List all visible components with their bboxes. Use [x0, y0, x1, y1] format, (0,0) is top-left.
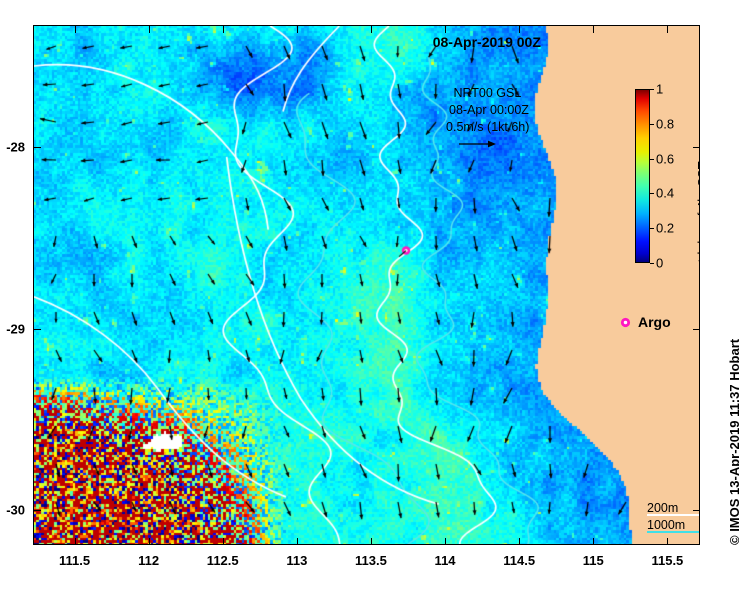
map-plot-area: 08-Apr-2019 00Z NRT00 GSL 08-Apr 00:00Z …: [33, 25, 700, 545]
y-tick: [34, 147, 41, 148]
colorbar-tick: [650, 89, 654, 90]
x-tick-label: 111.5: [59, 553, 90, 568]
x-tick: [297, 26, 298, 33]
colorbar-tick-label: 0.8: [656, 116, 674, 131]
colorbar-tick: [650, 193, 654, 194]
x-tick: [667, 538, 668, 545]
x-tick: [519, 26, 520, 33]
x-tick-label: 114: [435, 553, 456, 568]
y-tick-label: -30: [0, 503, 25, 518]
colorbar-tick-label: 0.4: [656, 186, 674, 201]
colorbar-tick: [650, 159, 654, 160]
colorbar-tick: [650, 263, 654, 264]
x-tick: [593, 26, 594, 33]
y-tick: [34, 329, 41, 330]
colorbar-tick: [650, 228, 654, 229]
argo-marker-icon: [620, 317, 631, 328]
x-tick: [75, 538, 76, 545]
x-tick: [149, 26, 150, 33]
x-tick: [445, 26, 446, 33]
x-tick: [297, 538, 298, 545]
depth-row-shallow: 200m: [647, 499, 685, 516]
colorbar-tick: [650, 124, 654, 125]
y-tick-label: -28: [0, 139, 25, 154]
x-tick: [223, 26, 224, 33]
vector-key-arrow-icon: [458, 138, 498, 150]
argo-legend: Argo: [620, 314, 671, 330]
x-tick: [445, 538, 446, 545]
colorbar-tick-label: 0: [656, 256, 663, 271]
x-tick: [519, 538, 520, 545]
depth-label-200m: 200m: [647, 501, 678, 515]
credit-text: © IMOS 13-Apr-2019 11:37 Hobart: [727, 339, 739, 545]
depth-rule-1000m: [647, 531, 699, 533]
x-tick: [149, 538, 150, 545]
depth-label-1000m: 1000m: [647, 518, 685, 532]
x-tick: [371, 538, 372, 545]
annotation-line-1: NRT00 GSL: [453, 86, 521, 100]
x-tick: [667, 26, 668, 33]
x-tick-label: 114.5: [503, 553, 535, 568]
depth-scale-key: 200m 1000m: [647, 499, 685, 533]
x-tick-label: 112.5: [207, 553, 239, 568]
colorbar-tick-label: 0.2: [656, 221, 674, 236]
x-tick-label: 115: [583, 553, 604, 568]
y-tick: [693, 147, 700, 148]
y-tick: [693, 329, 700, 330]
x-tick: [593, 538, 594, 545]
y-tick: [34, 510, 41, 511]
y-tick: [693, 510, 700, 511]
y-tick-label: -29: [0, 321, 25, 336]
x-tick-label: 112: [138, 553, 159, 568]
map-overlays: [34, 26, 700, 545]
annotation-line-3: 0.5m/s (1kt 6h): [446, 120, 529, 134]
colorbar-gradient: [635, 89, 650, 263]
x-tick-label: 113: [286, 553, 307, 568]
map-title: 08-Apr-2019 00Z: [433, 34, 541, 50]
x-tick: [371, 26, 372, 33]
argo-legend-label: Argo: [638, 314, 671, 330]
annotation-line-2: 08-Apr 00:00Z: [449, 103, 529, 117]
colorbar-tick-label: 1: [656, 82, 663, 97]
x-tick-label: 115.5: [651, 553, 683, 568]
colorbar-tick-label: 0.6: [656, 151, 674, 166]
x-tick-label: 113.5: [355, 553, 387, 568]
depth-row-deep: 1000m: [647, 516, 685, 533]
x-tick: [75, 26, 76, 33]
x-tick: [223, 538, 224, 545]
